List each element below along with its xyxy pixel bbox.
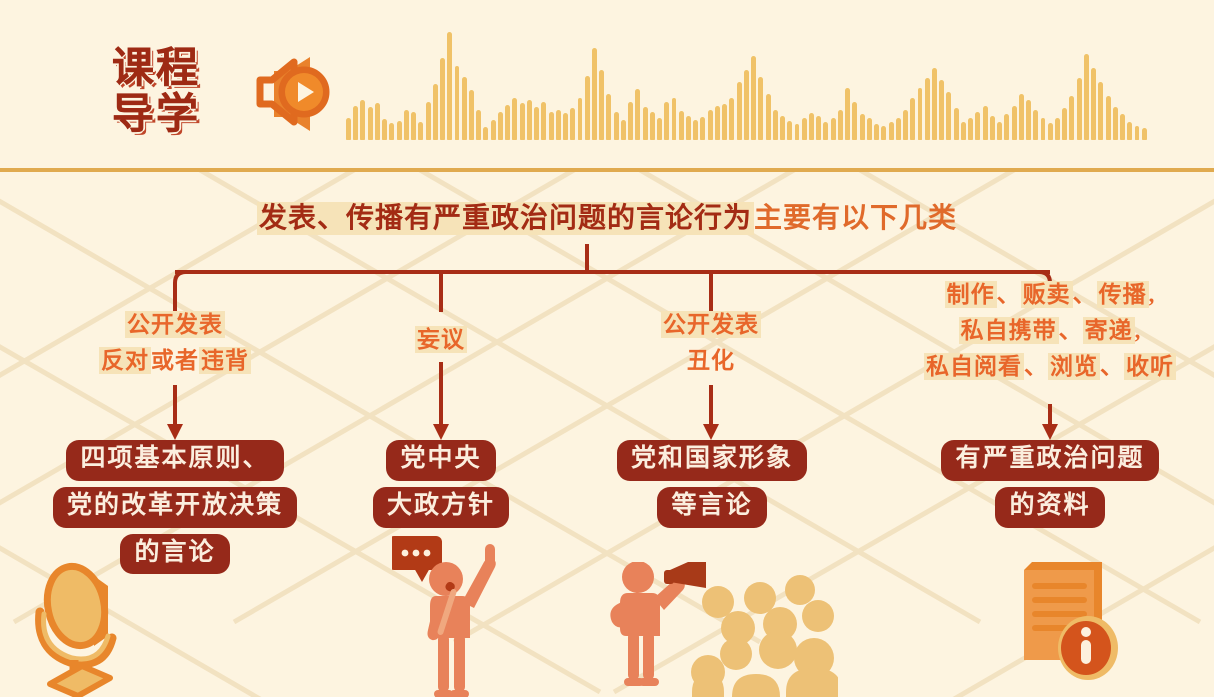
waveform-bar	[1106, 96, 1111, 140]
waveform-bar	[389, 123, 394, 140]
waveform-bar	[397, 121, 402, 140]
waveform-bar	[903, 110, 908, 140]
label-run: 、	[1024, 354, 1048, 379]
header-bar: 课程 导学	[0, 0, 1214, 172]
waveform-bar	[614, 112, 619, 140]
waveform-bar	[643, 107, 648, 140]
label-run: 私自阅看	[924, 353, 1024, 380]
waveform-bar	[556, 110, 561, 140]
waveform-bar	[1026, 100, 1031, 140]
waveform-bar	[823, 122, 828, 140]
waveform-bar	[621, 120, 626, 140]
waveform-bar	[447, 32, 452, 140]
pill: 大政方针	[373, 487, 509, 528]
waveform-bar	[874, 124, 879, 140]
waveform-bar	[512, 98, 517, 140]
waveform-bar	[1098, 82, 1103, 140]
waveform-bar	[925, 78, 930, 140]
waveform-bar	[860, 114, 865, 140]
waveform-bar	[599, 70, 604, 140]
waveform-bar	[360, 100, 365, 140]
logo-line-1: 课程	[112, 46, 222, 92]
waveform-bar	[910, 98, 915, 140]
label-run: 妄议	[415, 326, 467, 353]
waveform-bar	[1048, 123, 1053, 140]
waveform-bar	[932, 68, 937, 140]
waveform-bar	[679, 111, 684, 140]
waveform-bar	[578, 98, 583, 140]
waveform-bar	[353, 106, 358, 140]
waveform-bar	[491, 120, 496, 140]
waveform-bar	[881, 126, 886, 140]
waveform-bar	[1113, 107, 1118, 140]
waveform-bar	[672, 98, 677, 140]
waveform-bar	[918, 88, 923, 140]
waveform-bar	[505, 105, 510, 140]
waveform-bar	[708, 110, 713, 140]
waveform-bar	[585, 76, 590, 140]
waveform-bar	[896, 118, 901, 140]
person-with-megaphone-and-crowd-icon	[608, 562, 838, 697]
waveform-bar	[845, 88, 850, 140]
waveform-bar	[686, 116, 691, 140]
waveform-bar	[700, 117, 705, 140]
waveform-bar	[527, 100, 532, 140]
waveform-bar	[983, 106, 988, 140]
waveform-bar	[795, 124, 800, 140]
label-run: 贩卖	[1021, 281, 1073, 308]
label-run: 寄递	[1083, 317, 1135, 344]
label-run: ,	[1135, 318, 1142, 343]
pill: 党中央	[386, 440, 495, 481]
column-4-pills: 有严重政治问题 的资料	[900, 437, 1200, 531]
waveform-bar	[657, 118, 662, 140]
waveform-bar	[954, 108, 959, 140]
waveform-bar	[563, 113, 568, 140]
diagram-area: 发表、传播有严重政治问题的言论行为主要有以下几类 公开发表	[0, 172, 1214, 697]
waveform-bar	[939, 80, 944, 140]
column-4-label-line-3: 私自阅看、浏览、收听	[890, 349, 1210, 385]
waveform-bar	[729, 98, 734, 140]
waveform-bar	[483, 127, 488, 140]
waveform-bar	[346, 118, 351, 140]
waveform-bar	[744, 70, 749, 140]
waveform-bar	[520, 103, 525, 140]
label-run: 、	[997, 282, 1021, 307]
waveform-bar	[1142, 128, 1147, 140]
label-run: 违背	[199, 347, 251, 374]
waveform-bar	[802, 118, 807, 140]
waveform-bar	[462, 77, 467, 140]
waveform-bar	[1084, 54, 1089, 140]
waveform-bar	[975, 112, 980, 140]
waveform-bar	[1062, 108, 1067, 140]
person-with-mic-icon	[392, 530, 542, 697]
column-3-label-line-1: 公开发表	[611, 307, 811, 343]
column-3-pills: 党和国家形象 等言论	[596, 437, 828, 531]
waveform-bar	[433, 84, 438, 140]
waveform-bar	[549, 112, 554, 140]
waveform-bar	[1041, 118, 1046, 140]
waveform-bar	[722, 104, 727, 140]
column-2-label: 妄议	[341, 322, 541, 358]
pill: 党和国家形象	[617, 440, 807, 481]
waveform-bar	[650, 112, 655, 140]
waveform-bar	[968, 118, 973, 140]
waveform-bar	[382, 119, 387, 140]
label-run: 或者	[151, 348, 199, 373]
waveform-bar	[715, 106, 720, 140]
label-run: 传播	[1097, 281, 1149, 308]
label-run: ,	[1149, 282, 1156, 307]
waveform-bar	[635, 89, 640, 140]
waveform-bar	[404, 110, 409, 140]
waveform-bar	[997, 122, 1002, 140]
label-run: 公开发表	[661, 311, 761, 338]
waveform-bar	[606, 94, 611, 140]
waveform-bar	[455, 66, 460, 140]
waveform-bar	[787, 121, 792, 140]
waveform-bar	[418, 122, 423, 140]
column-4-label: 制作、贩卖、传播, 私自携带、寄递, 私自阅看、浏览、收听	[890, 277, 1210, 385]
pill: 四项基本原则、	[66, 440, 283, 481]
waveform-bar	[838, 110, 843, 140]
waveform-bar	[375, 103, 380, 140]
column-3-label: 公开发表 丑化	[611, 307, 811, 379]
course-guide-logo: 课程 导学	[112, 46, 222, 142]
column-1-label: 公开发表 反对或者违背	[40, 307, 310, 379]
label-run: 、	[1100, 354, 1124, 379]
waveform-bar	[852, 102, 857, 140]
column-2-pills: 党中央 大政方针	[326, 437, 556, 531]
document-info-icon	[992, 550, 1152, 697]
waveform-bar	[1127, 122, 1132, 140]
column-4-label-line-2: 私自携带、寄递,	[890, 313, 1210, 349]
waveform-bar	[592, 48, 597, 140]
waveform-bar	[1004, 114, 1009, 140]
label-run: 、	[1059, 318, 1083, 343]
pill: 等言论	[657, 487, 766, 528]
waveform-bar	[990, 116, 995, 140]
waveform-bar	[773, 110, 778, 140]
logo-line-2: 导学	[112, 92, 222, 138]
waveform-bar	[1120, 114, 1125, 140]
label-run: 浏览	[1048, 353, 1100, 380]
waveform-bar	[476, 110, 481, 140]
waveform-bar	[946, 92, 951, 140]
waveform-bar	[368, 107, 373, 140]
pill: 有严重政治问题	[941, 440, 1158, 481]
waveform-bar	[766, 94, 771, 140]
waveform-bar	[664, 102, 669, 140]
waveform-bar	[867, 118, 872, 140]
waveform-bar	[534, 107, 539, 140]
waveform-bar	[1077, 78, 1082, 140]
waveform-bar	[628, 102, 633, 140]
label-run: 、	[1073, 282, 1097, 307]
waveform-bar	[570, 108, 575, 140]
waveform-bar	[440, 58, 445, 140]
waveform-bar	[809, 113, 814, 140]
waveform-bar	[411, 112, 416, 140]
waveform-bar	[1033, 110, 1038, 140]
waveform-bar	[1012, 106, 1017, 140]
label-run: 丑化	[687, 348, 735, 373]
waveform-bar	[961, 122, 966, 140]
column-3-label-line-2: 丑化	[611, 343, 811, 379]
label-run: 私自携带	[959, 317, 1059, 344]
label-run: 制作	[945, 281, 997, 308]
waveform-bar	[737, 82, 742, 140]
pill: 的资料	[995, 487, 1104, 528]
waveform-bar	[693, 120, 698, 140]
waveform-bar	[426, 102, 431, 140]
waveform-bar	[498, 112, 503, 140]
column-4-label-line-1: 制作、贩卖、传播,	[890, 277, 1210, 313]
pill: 党的改革开放决策	[53, 487, 297, 528]
label-run: 公开发表	[125, 311, 225, 338]
waveform-bar	[816, 116, 821, 140]
waveform-bar	[831, 118, 836, 140]
waveform-bar	[541, 102, 546, 140]
column-2-label-line-1: 妄议	[341, 322, 541, 358]
speaker-play-icon	[246, 50, 332, 139]
microphone-icon	[22, 562, 182, 697]
waveform-bar	[1019, 94, 1024, 140]
waveform-bar	[889, 122, 894, 140]
waveform-bar	[469, 90, 474, 140]
waveform-bar	[758, 77, 763, 140]
audio-waveform	[346, 18, 1146, 140]
waveform-bar	[1055, 118, 1060, 140]
label-run: 反对	[99, 347, 151, 374]
waveform-bar	[1069, 96, 1074, 140]
column-1-label-line-1: 公开发表	[40, 307, 310, 343]
label-run: 收听	[1124, 353, 1176, 380]
waveform-bar	[1091, 68, 1096, 140]
waveform-bar	[780, 116, 785, 140]
waveform-bar	[1135, 126, 1140, 140]
waveform-bar	[751, 56, 756, 140]
column-1-label-line-2: 反对或者违背	[40, 343, 310, 379]
column-1-pills: 四项基本原则、 党的改革开放决策 的言论	[10, 437, 340, 577]
